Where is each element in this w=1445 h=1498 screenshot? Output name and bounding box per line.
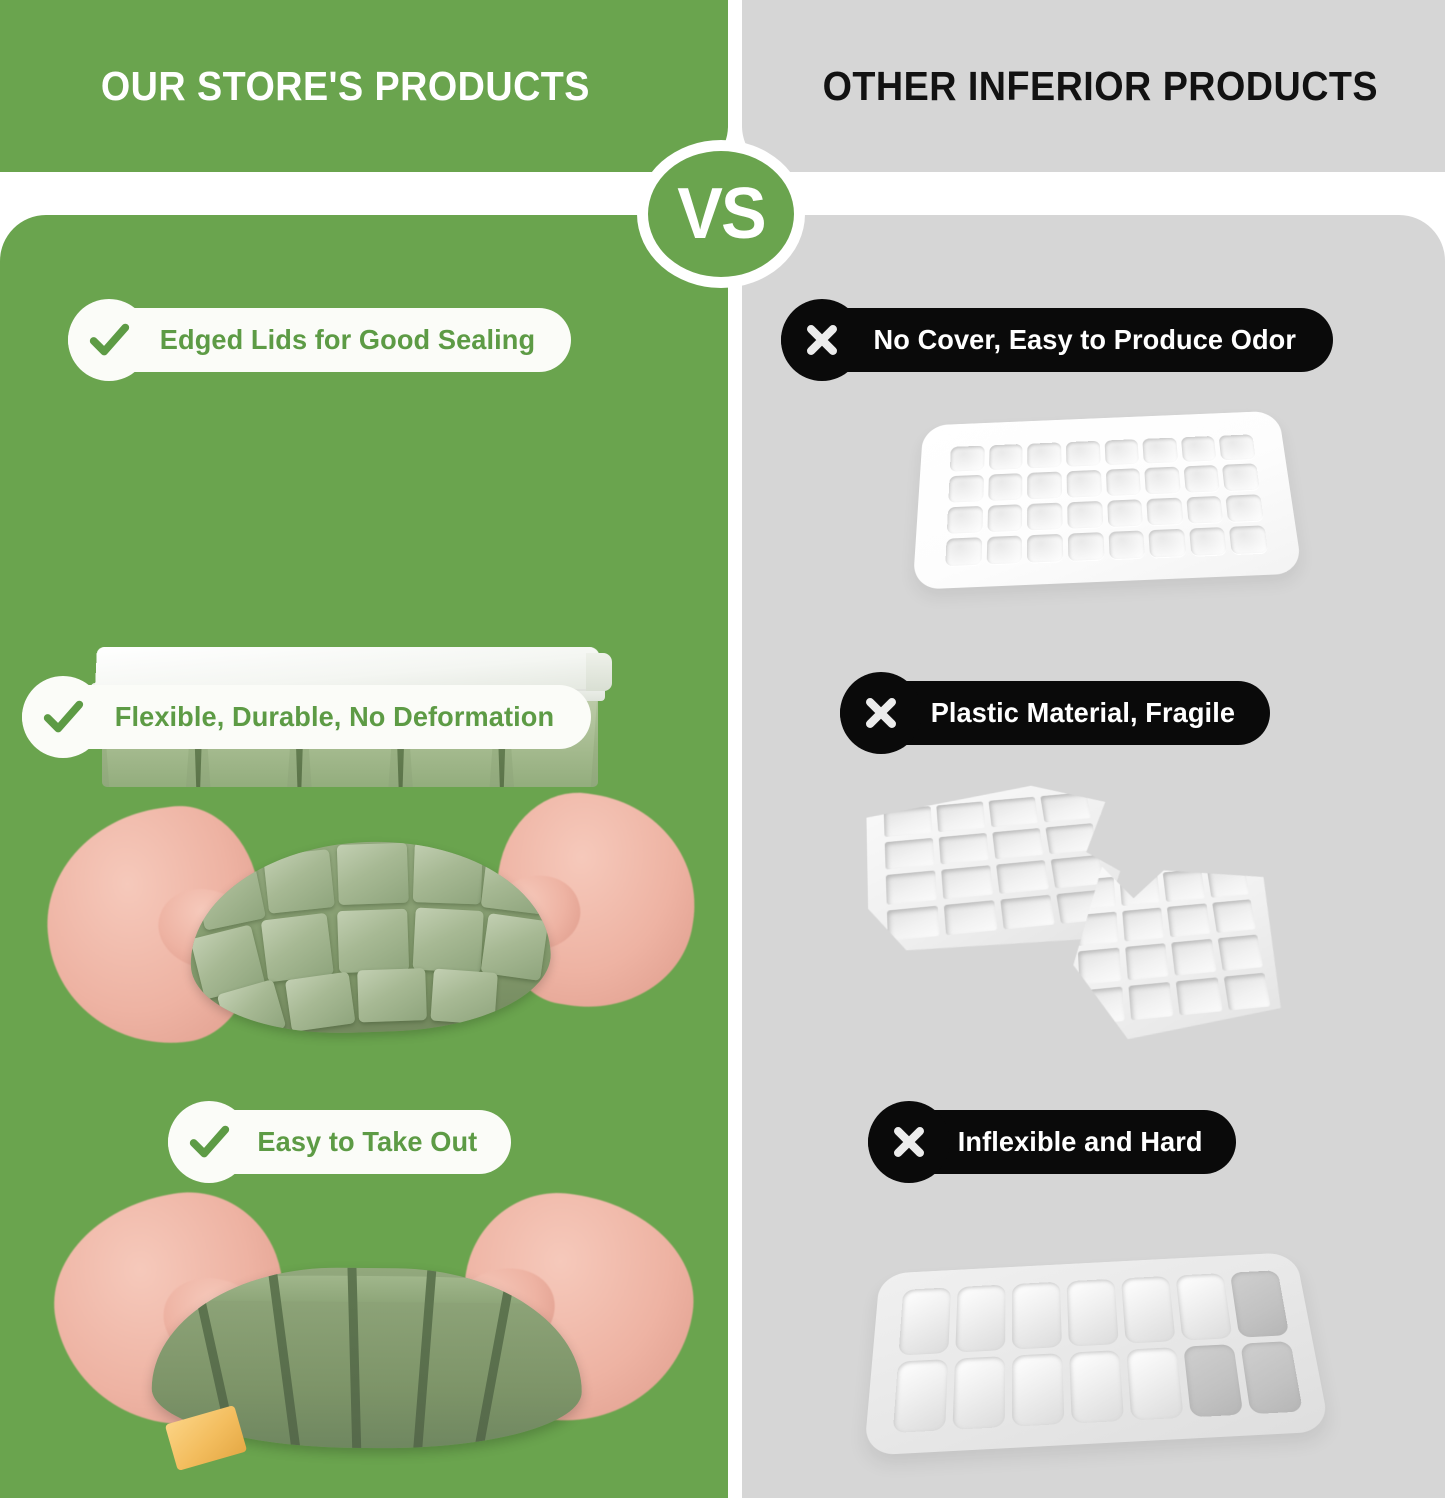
panel-other-products: No Cover, Easy to Produce Odor <box>742 215 1445 1498</box>
ice-cube-cell <box>430 969 497 1025</box>
ice-cube <box>893 1359 948 1433</box>
vs-label: VS <box>677 178 764 250</box>
well <box>945 537 982 566</box>
well <box>988 797 1038 827</box>
ice-cube <box>1175 1273 1232 1340</box>
ice-cube <box>955 1285 1005 1353</box>
check-icon <box>22 676 104 758</box>
header-our-products: OUR STORE'S PRODUCTS <box>0 0 728 172</box>
x-icon <box>840 672 922 754</box>
panel-our-products: Edged Lids for Good Sealing <box>0 215 728 1498</box>
x-icon <box>868 1101 950 1183</box>
well <box>1167 903 1211 937</box>
well <box>1105 468 1141 495</box>
ice-cube-cell <box>413 842 483 904</box>
feature-pill-flexible: Flexible, Durable, No Deformation <box>22 685 591 749</box>
feature-pill-edged-lids: Edged Lids for Good Sealing <box>68 308 571 372</box>
product-image-white-tray <box>914 400 1293 591</box>
well <box>1000 894 1055 929</box>
well <box>1148 528 1186 557</box>
product-image-bending-tray <box>42 1196 702 1498</box>
well <box>950 446 985 472</box>
well <box>1146 497 1183 525</box>
well <box>1119 873 1161 906</box>
feature-label: Easy to Take Out <box>257 1126 477 1158</box>
drawback-pill-bar: No Cover, Easy to Produce Odor <box>781 308 1333 372</box>
well-grid <box>1075 865 1271 1025</box>
well <box>1183 465 1220 492</box>
ice-cube-cell <box>413 908 484 973</box>
ice-cube <box>1121 1276 1176 1343</box>
feature-pill-bar: Flexible, Durable, No Deformation <box>22 685 591 749</box>
other-products-title: OTHER INFERIOR PRODUCTS <box>809 63 1377 110</box>
well <box>1206 865 1249 897</box>
vs-badge: VS <box>637 140 805 288</box>
ice-cube-cell <box>337 909 409 973</box>
feature-pill-easy-take-out: Easy to Take Out <box>168 1110 511 1174</box>
well <box>1125 943 1169 980</box>
well-grid <box>945 434 1268 566</box>
well <box>941 865 993 899</box>
well <box>1051 855 1105 888</box>
header-other-products: OTHER INFERIOR PRODUCTS <box>742 0 1445 172</box>
well <box>1163 869 1205 901</box>
well <box>1067 500 1103 528</box>
well <box>1027 502 1062 530</box>
product-image-rigid-tray <box>867 1233 1317 1464</box>
ice-cube <box>1126 1347 1184 1421</box>
well <box>1068 532 1104 561</box>
well <box>992 828 1044 860</box>
drawback-pill-fragile: Plastic Material, Fragile <box>840 681 1270 745</box>
ice-cube-cell <box>261 913 334 983</box>
well <box>948 475 983 502</box>
ice-cube-cell <box>193 859 266 931</box>
ice-cube <box>898 1287 951 1355</box>
well <box>887 905 940 941</box>
ice-cube-cell <box>481 847 550 914</box>
product-image-broken-tray <box>862 768 1282 1060</box>
well <box>1217 934 1263 970</box>
ice-grid <box>893 1270 1303 1433</box>
well <box>1219 434 1256 460</box>
well <box>988 473 1023 500</box>
well <box>936 801 986 831</box>
ice-cube <box>1183 1344 1243 1418</box>
well <box>1080 986 1125 1025</box>
product-image-flexing-tray <box>40 790 700 1080</box>
well <box>947 505 983 533</box>
well <box>986 535 1022 564</box>
well <box>1181 436 1217 462</box>
well <box>1176 977 1223 1016</box>
ice-cube <box>1067 1279 1119 1346</box>
well <box>996 860 1049 893</box>
ice-cube-cell <box>263 849 335 914</box>
comparison-infographic: OUR STORE'S PRODUCTS OTHER INFERIOR PROD… <box>0 0 1445 1498</box>
ice-cube <box>1012 1353 1064 1427</box>
well <box>1027 442 1061 468</box>
feature-label: Flexible, Durable, No Deformation <box>115 701 554 733</box>
well-grid <box>884 792 1112 941</box>
well <box>1104 439 1139 465</box>
check-icon <box>168 1101 250 1183</box>
well <box>1027 472 1062 499</box>
drawback-label: Plastic Material, Fragile <box>931 697 1235 729</box>
well <box>884 806 933 837</box>
well <box>944 900 998 936</box>
well <box>1223 972 1270 1010</box>
our-products-title: OUR STORE'S PRODUCTS <box>101 63 627 110</box>
well <box>1222 464 1259 491</box>
well <box>1040 792 1091 822</box>
well <box>1128 981 1174 1020</box>
drawback-pill-no-cover: No Cover, Easy to Produce Odor <box>781 308 1333 372</box>
well <box>1107 499 1143 527</box>
well <box>1045 823 1097 854</box>
well <box>1229 525 1268 554</box>
well <box>987 504 1022 532</box>
drawback-label: No Cover, Easy to Produce Odor <box>874 324 1296 356</box>
drawback-label: Inflexible and Hard <box>958 1126 1203 1158</box>
well <box>1212 899 1256 933</box>
well <box>1122 907 1165 942</box>
squeezed-silicone-tray <box>187 836 553 1038</box>
well <box>1171 939 1216 975</box>
well <box>1186 495 1224 523</box>
well <box>885 837 935 869</box>
ice-cube-cell <box>357 968 427 1022</box>
well <box>1144 467 1180 494</box>
ice-cube <box>1012 1282 1062 1349</box>
well <box>1066 470 1101 497</box>
ice-cube <box>1069 1350 1124 1424</box>
ice-cube <box>952 1356 1005 1430</box>
well <box>1142 438 1178 464</box>
lid-top <box>95 647 601 689</box>
ice-cube-cell <box>337 843 409 905</box>
well <box>1066 441 1100 467</box>
well <box>1189 527 1227 556</box>
well <box>989 444 1023 470</box>
well <box>1108 530 1145 559</box>
well <box>1078 948 1121 985</box>
ice-cube-cell <box>285 972 356 1032</box>
drawback-pill-inflexible: Inflexible and Hard <box>868 1110 1236 1174</box>
well <box>939 832 990 864</box>
check-icon <box>68 299 150 381</box>
ice-cube-cell <box>481 913 549 981</box>
feature-label: Edged Lids for Good Sealing <box>160 324 535 356</box>
well <box>1027 534 1063 563</box>
well <box>1226 494 1264 522</box>
well <box>886 870 937 904</box>
x-icon <box>781 299 863 381</box>
